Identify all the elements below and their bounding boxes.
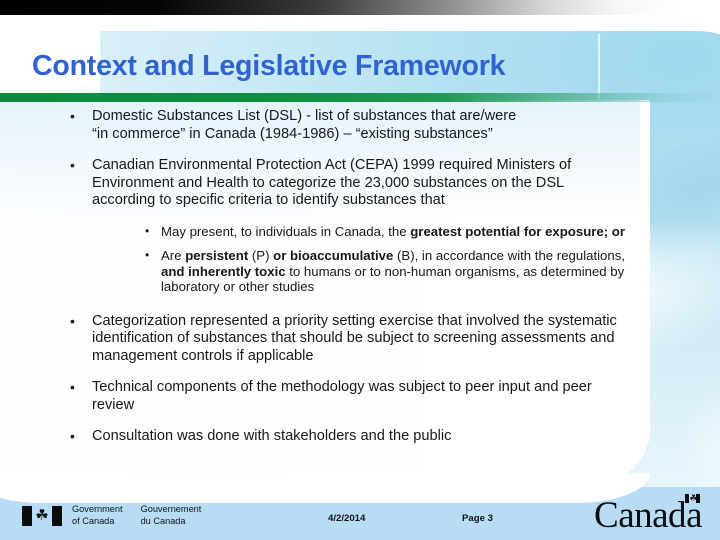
sub-bullet-group: • May present, to individuals in Canada,… xyxy=(0,224,700,295)
canadian-flag-icon: ☘ xyxy=(22,506,62,526)
bullet-marker-icon: • xyxy=(70,108,75,125)
signature-english: Government of Canada xyxy=(72,504,123,528)
government-of-canada-signature: ☘ Government of Canada Gouvernement du C… xyxy=(22,504,201,528)
flag-left-bar xyxy=(22,506,32,526)
bullet-text: Consultation was done with stakeholders … xyxy=(92,428,630,446)
signature-text: Government of Canada Gouvernement du Can… xyxy=(72,504,201,528)
canada-wordmark: Canada☘ xyxy=(594,497,702,534)
wordmark-flag-left-bar xyxy=(685,494,689,503)
sub-bullet-text: Are persistent (P) or bioaccumulative (B… xyxy=(161,248,625,295)
sub-bullet-text: May present, to individuals in Canada, t… xyxy=(161,224,625,240)
bullet-marker-icon: • xyxy=(70,313,75,330)
bullet-marker-icon: • xyxy=(145,224,149,238)
top-gradient-bar xyxy=(0,0,720,15)
bullet-text: Technical components of the methodology … xyxy=(92,379,630,414)
slide-title: Context and Legislative Framework xyxy=(32,50,692,83)
bullet-item: • Canadian Environmental Protection Act … xyxy=(70,157,630,210)
bullet-item: • Domestic Substances List (DSL) - list … xyxy=(70,108,644,143)
footer-page-number: Page 3 xyxy=(462,513,493,524)
wordmark-flag-icon: ☘ xyxy=(685,494,700,503)
slide-canvas: Context and Legislative Framework • Dome… xyxy=(0,0,720,540)
signature-french: Gouvernement du Canada xyxy=(141,504,202,528)
sub-bullet-item: • Are persistent (P) or bioaccumulative … xyxy=(145,248,625,295)
bullet-item: • Categorization represented a priority … xyxy=(70,313,630,366)
bullet-marker-icon: • xyxy=(70,379,75,396)
footer-date: 4/2/2014 xyxy=(328,513,365,524)
title-underline-rule xyxy=(0,93,720,102)
slide-body: • Domestic Substances List (DSL) - list … xyxy=(0,108,700,460)
maple-leaf-icon: ☘ xyxy=(35,508,49,524)
bullet-text: Categorization represented a priority se… xyxy=(92,313,630,366)
bullet-item: • Consultation was done with stakeholder… xyxy=(70,428,630,446)
bullet-marker-icon: • xyxy=(145,248,149,262)
flag-right-bar xyxy=(52,506,62,526)
bullet-item: • Technical components of the methodolog… xyxy=(70,379,630,414)
bullet-text: Domestic Substances List (DSL) - list of… xyxy=(92,108,644,143)
footer-band: ☘ Government of Canada Gouvernement du C… xyxy=(0,487,720,540)
wordmark-flag-right-bar xyxy=(696,494,700,503)
bullet-text: Canadian Environmental Protection Act (C… xyxy=(92,157,630,210)
bullet-marker-icon: • xyxy=(70,157,75,174)
sub-bullet-item: • May present, to individuals in Canada,… xyxy=(145,224,625,240)
bullet-marker-icon: • xyxy=(70,428,75,445)
